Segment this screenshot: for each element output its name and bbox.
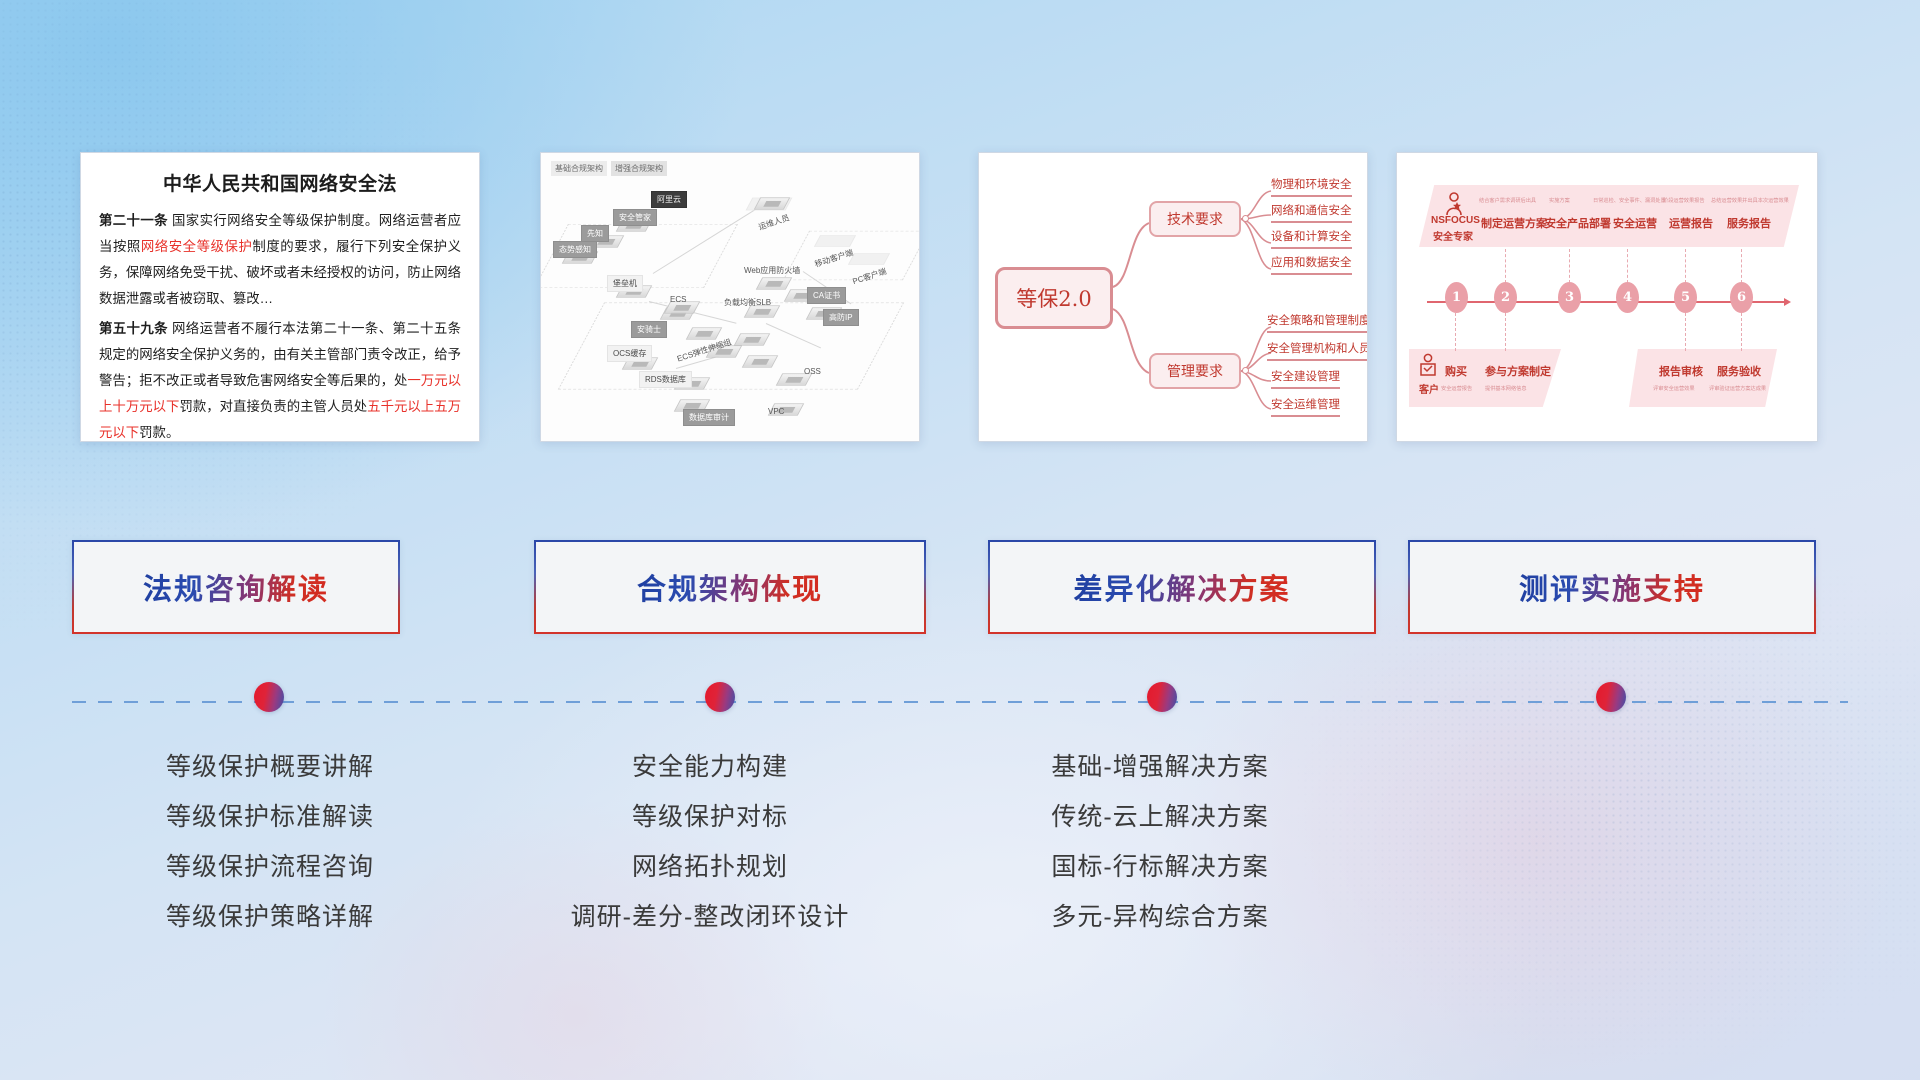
architecture-diagram: 基础合规架构 增强合规架构 [541, 153, 919, 441]
mindmap-leaf-t3: 设备和计算安全 [1271, 229, 1352, 249]
architecture-tab-enhanced[interactable]: 增强合规架构 [611, 161, 667, 176]
law-article-21: 第二十一条 国家实行网络安全等级保护制度。网络运营者应当按照网络安全等级保护制度… [99, 208, 461, 312]
timeline-connector-2 [1505, 249, 1506, 283]
architecture-label-db-audit: 数据库审计 [683, 409, 735, 426]
timeline-node-5[interactable]: 5 [1674, 282, 1697, 313]
law-document-body: 中华人民共和国网络安全法 第二十一条 国家实行网络安全等级保护制度。网络运营者应… [81, 153, 479, 442]
architecture-label-ops-person: 运维人员 [752, 209, 797, 236]
section-label-4-text: 测评实施支持 [1519, 566, 1705, 608]
section-label-2-text: 合规架构体现 [637, 566, 823, 608]
architecture-label-bastion: 堡垒机 [607, 275, 643, 292]
timeline-vendor-name: NSFOCUS [1431, 215, 1480, 226]
mindmap-leaf-m3: 安全建设管理 [1271, 369, 1340, 389]
list-item: 等级保护标准解读 [60, 792, 480, 842]
timeline-bottom-step-1-label: 购买 [1445, 363, 1467, 379]
timeline-top-step-1-sub: 结合客户需求调研后出具 [1479, 197, 1536, 204]
section-label-1-text: 法规咨询解读 [143, 566, 329, 608]
architecture-label-anti-ddos: 高防IP [823, 309, 859, 326]
timeline-connector-b2 [1505, 313, 1506, 351]
architecture-label-agent: 安骑士 [631, 321, 667, 338]
timeline-node-6[interactable]: 6 [1730, 282, 1753, 313]
list-item: 等级保护流程咨询 [60, 842, 480, 892]
architecture-label-waf: Web应用防火墙 [739, 263, 805, 278]
detail-column-3: 基础-增强解决方案 传统-云上解决方案 国标-行标解决方案 多元-异构综合方案 [950, 742, 1370, 942]
mindmap-branch-technical: 技术要求 [1149, 201, 1241, 237]
mindmap-collapse-dot-management[interactable] [1242, 367, 1249, 374]
mindmap-leaf-m1: 安全策略和管理制度 [1267, 313, 1368, 333]
architecture-label-butler: 安全管家 [613, 209, 657, 226]
law-article-59-label: 第五十九条 [99, 321, 168, 336]
architecture-label-ocs: OCS缓存 [607, 345, 652, 362]
timeline-marker-2[interactable] [705, 682, 735, 712]
card-cloud-architecture[interactable]: 基础合规架构 增强合规架构 [540, 152, 920, 442]
law-article-21-highlight: 网络安全等级保护 [141, 239, 253, 254]
timeline-bottom-step-4-label: 服务验收 [1717, 363, 1761, 379]
section-label-differentiated-solution[interactable]: 差异化解决方案 [988, 540, 1376, 634]
law-article-59-text-2: 罚款，对直接负责的主管人员处 [179, 399, 367, 414]
section-label-3-text: 差异化解决方案 [1073, 566, 1290, 608]
list-item: 等级保护概要讲解 [60, 742, 480, 792]
section-label-regulation-consulting[interactable]: 法规咨询解读 [72, 540, 400, 634]
timeline-connector-b4 [1741, 313, 1742, 351]
card-service-timeline[interactable]: NSFOCUS 安全专家 客户 制定运营方案 结合客户需求调研后出具 安全产品部… [1396, 152, 1818, 442]
card-mindmap-dengbao[interactable]: 等保2.0 技术要求 管理要求 物理和环境安全 网络和通信安全 设备和计算安全 … [978, 152, 1368, 442]
detail-column-1: 等级保护概要讲解 等级保护标准解读 等级保护流程咨询 等级保护策略详解 [60, 742, 480, 942]
timeline-top-step-1-label: 制定运营方案 [1481, 215, 1547, 231]
timeline-bottom-step-3-label: 报告审核 [1659, 363, 1703, 379]
law-document-title: 中华人民共和国网络安全法 [99, 169, 461, 196]
mindmap-leaf-t1: 物理和环境安全 [1271, 177, 1352, 197]
section-label-compliance-architecture[interactable]: 合规架构体现 [534, 540, 926, 634]
list-item: 等级保护对标 [500, 792, 920, 842]
detail-column-2: 安全能力构建 等级保护对标 网络拓扑规划 调研-差分-整改闭环设计 [500, 742, 920, 942]
timeline-bottom-step-3-sub: 评审安全运营效果 [1653, 385, 1695, 392]
architecture-label-slb: 负载均衡SLB [719, 295, 776, 310]
timeline-connector-b3 [1685, 313, 1686, 351]
architecture-label-ca: CA证书 [807, 287, 846, 304]
architecture-label-vpc: VPC [763, 405, 789, 418]
timeline-node-2[interactable]: 2 [1494, 282, 1517, 313]
mindmap-diagram: 等保2.0 技术要求 管理要求 物理和环境安全 网络和通信安全 设备和计算安全 … [979, 153, 1367, 441]
timeline-connector-3 [1569, 249, 1570, 283]
list-item: 多元-异构综合方案 [950, 892, 1370, 942]
architecture-tab-basic[interactable]: 基础合规架构 [551, 161, 607, 176]
architecture-label-situation: 态势感知 [553, 241, 597, 258]
mindmap-leaf-t2: 网络和通信安全 [1271, 203, 1352, 223]
timeline-bottom-step-2-sub: 提供基本网络信息 [1485, 385, 1527, 392]
card-law-document[interactable]: 中华人民共和国网络安全法 第二十一条 国家实行网络安全等级保护制度。网络运营者应… [80, 152, 480, 442]
law-article-21-label: 第二十一条 [99, 213, 168, 228]
list-item: 网络拓扑规划 [500, 842, 920, 892]
timeline-top-step-5-label: 服务报告 [1727, 215, 1771, 231]
preview-cards-row: 中华人民共和国网络安全法 第二十一条 国家实行网络安全等级保护制度。网络运营者应… [0, 152, 1920, 442]
timeline-dashed-line [72, 701, 1848, 703]
architecture-label-rds: RDS数据库 [639, 371, 692, 388]
mindmap-leaf-m2: 安全管理机构和人员 [1267, 341, 1368, 361]
mindmap-collapse-dot-technical[interactable] [1242, 215, 1249, 222]
list-item: 国标-行标解决方案 [950, 842, 1370, 892]
mindmap-leaf-t4: 应用和数据安全 [1271, 255, 1352, 275]
list-item: 基础-增强解决方案 [950, 742, 1370, 792]
timeline-node-4[interactable]: 4 [1616, 282, 1639, 313]
timeline-connector-4 [1627, 249, 1628, 283]
mindmap-root-node: 等保2.0 [995, 267, 1113, 329]
architecture-label-aliyun: 阿里云 [651, 191, 687, 208]
list-item: 传统-云上解决方案 [950, 792, 1370, 842]
service-timeline-diagram: NSFOCUS 安全专家 客户 制定运营方案 结合客户需求调研后出具 安全产品部… [1397, 153, 1817, 441]
list-item: 等级保护策略详解 [60, 892, 480, 942]
list-item: 安全能力构建 [500, 742, 920, 792]
slide-stage: 中华人民共和国网络安全法 第二十一条 国家实行网络安全等级保护制度。网络运营者应… [0, 0, 1920, 1080]
timeline-top-step-3-sub: 日常巡检、安全事件、漏洞处置 [1593, 197, 1666, 204]
timeline-node-1[interactable]: 1 [1445, 282, 1468, 313]
timeline-top-step-5-sub: 总结运营效果并出具本次运营效果 [1711, 197, 1789, 204]
timeline-vendor-role: 安全专家 [1433, 228, 1473, 243]
law-article-59-text-3: 罚款。 [139, 425, 179, 440]
timeline-top-step-4-sub: 阶段运营效果报告 [1663, 197, 1705, 204]
progress-timeline [0, 692, 1920, 712]
architecture-tabs: 基础合规架构 增强合规架构 [551, 161, 667, 176]
timeline-node-3[interactable]: 3 [1558, 282, 1581, 313]
section-label-evaluation-support[interactable]: 测评实施支持 [1408, 540, 1816, 634]
timeline-top-step-2-sub: 实施方案 [1549, 197, 1570, 204]
architecture-label-ecs: ECS [665, 293, 691, 306]
timeline-bottom-step-4-sub: 评审验证运营方案达成果 [1709, 385, 1766, 392]
mindmap-branch-management: 管理要求 [1149, 353, 1241, 389]
customer-icon [1417, 353, 1439, 384]
architecture-node-waf [756, 277, 793, 289]
timeline-connector-b1 [1455, 313, 1456, 351]
timeline-top-step-2-label: 安全产品部署 [1545, 215, 1611, 231]
timeline-bottom-step-2-label: 参与方案制定 [1485, 363, 1551, 379]
law-article-59: 第五十九条 网络运营者不履行本法第二十一条、第二十五条规定的网络安全保护义务的，… [99, 316, 461, 442]
timeline-top-step-3-label: 安全运营 [1613, 215, 1657, 231]
timeline-marker-3[interactable] [1147, 682, 1177, 712]
architecture-label-xianzhi: 先知 [581, 225, 609, 242]
timeline-marker-1[interactable] [254, 682, 284, 712]
timeline-connector-6 [1741, 249, 1742, 283]
mindmap-leaf-m4: 安全运维管理 [1271, 397, 1340, 417]
timeline-connector-5 [1685, 249, 1686, 283]
timeline-bottom-step-1-sub: 安全运营报告 [1441, 385, 1472, 392]
architecture-label-oss: OSS [799, 365, 826, 378]
timeline-customer-name: 客户 [1419, 381, 1439, 396]
timeline-marker-4[interactable] [1596, 682, 1626, 712]
list-item: 调研-差分-整改闭环设计 [500, 892, 920, 942]
timeline-top-step-4-label: 运营报告 [1669, 215, 1713, 231]
section-labels-row: 法规咨询解读 合规架构体现 差异化解决方案 测评实施支持 [0, 540, 1920, 644]
